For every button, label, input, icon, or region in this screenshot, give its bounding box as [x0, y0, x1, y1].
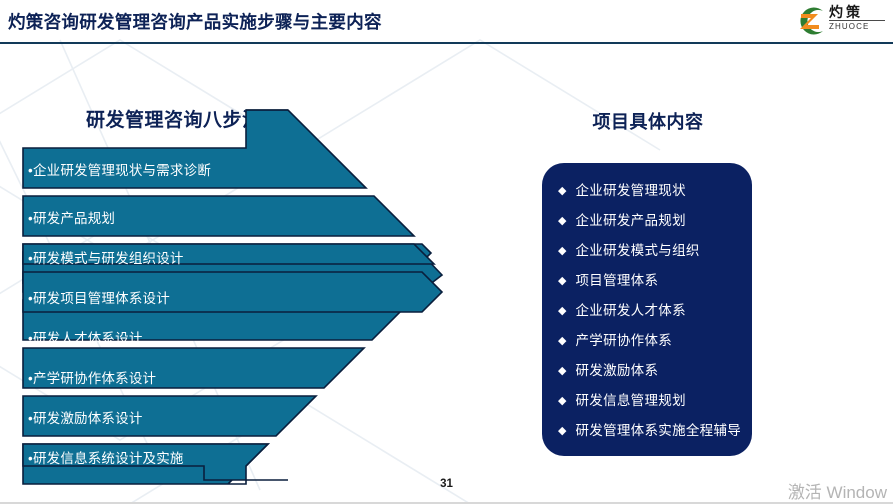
step-text-6: 产学研协作体系设计 [33, 371, 156, 386]
project-content-box: ◆ 企业研发管理现状 ◆ 企业研发产品规划 ◆ 企业研发模式与组织 ◆ 项目管理… [542, 163, 752, 456]
logo-divider [829, 20, 885, 21]
diamond-bullet-icon: ◆ [558, 387, 566, 415]
project-content-panel: 项目具体内容 ◆ 企业研发管理现状 ◆ 企业研发产品规划 ◆ 企业研发模式与组织… [470, 43, 893, 504]
step-label-4: •研发项目管理体系设计 [28, 287, 170, 307]
list-item: ◆ 研发信息管理规划 [542, 387, 752, 415]
step-label-3: •研发模式与研发组织设计 [28, 247, 184, 267]
list-item: ◆ 产学研协作体系 [542, 327, 752, 355]
step-text-8: 研发信息系统设计及实施 [33, 451, 184, 466]
slide-canvas: 灼策咨询研发管理咨询产品实施步骤与主要内容 灼策 ZHUOCE 研发管理咨询八步… [0, 0, 893, 504]
list-item-label: 企业研发管理现状 [575, 177, 742, 205]
step-text-4: 研发项目管理体系设计 [33, 291, 170, 306]
diamond-bullet-icon: ◆ [558, 237, 566, 265]
step-text-5: 研发人才体系设计 [33, 331, 143, 346]
list-item-label: 项目管理体系 [575, 267, 742, 295]
diamond-bullet-icon: ◆ [558, 357, 566, 385]
right-panel-title: 项目具体内容 [470, 108, 826, 134]
diamond-bullet-icon: ◆ [558, 297, 566, 325]
page-title: 灼策咨询研发管理咨询产品实施步骤与主要内容 [8, 9, 382, 34]
diamond-bullet-icon: ◆ [558, 417, 566, 445]
list-item: ◆ 项目管理体系 [542, 267, 752, 295]
logo-name-en: ZHUOCE [829, 21, 887, 32]
step-text-2: 研发产品规划 [33, 211, 115, 226]
list-item: ◆ 研发管理体系实施全程辅导 [542, 417, 752, 445]
slide-header: 灼策咨询研发管理咨询产品实施步骤与主要内容 灼策 ZHUOCE [0, 0, 893, 43]
diamond-bullet-icon: ◆ [558, 207, 566, 235]
list-item-label: 产学研协作体系 [575, 327, 742, 355]
list-item-label: 研发信息管理规划 [575, 387, 742, 415]
logo-z-mark [793, 5, 827, 37]
step-label-7: •研发激励体系设计 [28, 407, 143, 427]
arrow-step-shapes [0, 43, 470, 504]
page-number: 31 [0, 478, 893, 490]
diamond-bullet-icon: ◆ [558, 177, 566, 205]
diamond-bullet-icon: ◆ [558, 267, 566, 295]
step-label-2: •研发产品规划 [28, 207, 115, 227]
list-item: ◆ 企业研发人才体系 [542, 297, 752, 325]
list-item: ◆ 研发激励体系 [542, 357, 752, 385]
list-item-label: 企业研发人才体系 [575, 297, 742, 325]
step-label-5: •研发人才体系设计 [28, 327, 143, 347]
list-item: ◆ 企业研发产品规划 [542, 207, 752, 235]
logo-name-cn: 灼策 [829, 4, 887, 21]
logo-wordmark: 灼策 ZHUOCE [829, 4, 887, 32]
step-label-6: •产学研协作体系设计 [28, 367, 156, 387]
list-item-label: 企业研发模式与组织 [575, 237, 742, 265]
list-item: ◆ 企业研发模式与组织 [542, 237, 752, 265]
step-text-3: 研发模式与研发组织设计 [33, 251, 184, 266]
step-label-1: •企业研发管理现状与需求诊断 [28, 159, 211, 179]
list-item-label: 研发激励体系 [575, 357, 742, 385]
step-text-1: 企业研发管理现状与需求诊断 [33, 163, 211, 178]
list-item-label: 研发管理体系实施全程辅导 [575, 417, 742, 445]
company-logo: 灼策 ZHUOCE [793, 3, 887, 39]
header-divider [0, 42, 893, 44]
step-label-8: •研发信息系统设计及实施 [28, 447, 184, 467]
step-text-7: 研发激励体系设计 [33, 411, 143, 426]
list-item-label: 企业研发产品规划 [575, 207, 742, 235]
windows-activation-watermark: 激活 Window [788, 478, 887, 503]
diamond-bullet-icon: ◆ [558, 327, 566, 355]
list-item: ◆ 企业研发管理现状 [542, 177, 752, 205]
eight-step-arrow-panel: 研发管理咨询八步法 [0, 43, 470, 504]
